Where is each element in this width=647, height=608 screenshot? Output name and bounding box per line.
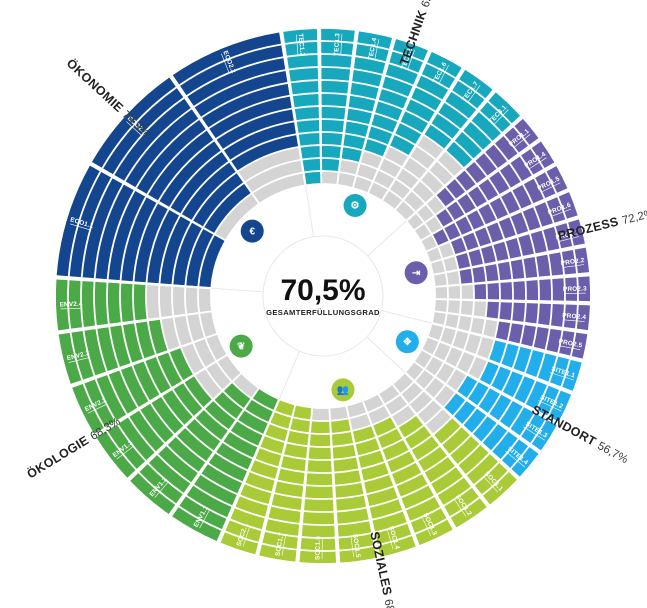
ring-cell-filled — [518, 234, 534, 256]
ring-cell-filled — [506, 238, 521, 258]
ring-cell-empty — [439, 243, 454, 258]
sunburst-svg: ECO1.1ECO2.1ECO2.2TEC1.2TEC1.3TEC1.4TEC1… — [0, 0, 647, 608]
dimension-icon-prozess[interactable]: ⇥ — [405, 261, 428, 284]
ring-cell-filled — [334, 458, 359, 472]
dimension-percent: 72,2% — [621, 208, 647, 228]
euro-icon-glyph: € — [249, 226, 255, 237]
ring-cell-filled — [95, 282, 108, 325]
ring-cell-filled — [511, 259, 525, 279]
dimension-name: TECHNIK — [397, 8, 429, 67]
ring-cell-filled — [281, 456, 306, 471]
ring-cell-filled — [134, 284, 147, 320]
dimension-percent: 65,7% — [420, 0, 442, 9]
ring-cell-filled — [521, 325, 536, 346]
ring-cell-filled — [321, 68, 350, 81]
center-total-value: 70,5% — [280, 274, 365, 307]
ring-cell-filled — [295, 107, 319, 120]
dimension-icon-oekonomie[interactable]: € — [241, 220, 264, 243]
dimension-title: ÖKONOMIE79,9% — [63, 56, 153, 140]
ring-cell-filled — [287, 431, 308, 445]
dimension-name: ÖKONOMIE — [63, 56, 126, 116]
ring-cell-filled — [82, 281, 95, 327]
ring-cell-filled — [481, 246, 496, 264]
ring-cell-filled — [275, 481, 303, 497]
ring-cell-empty — [431, 260, 445, 273]
ring-cell-filled — [451, 238, 466, 254]
ring-cell-empty — [449, 286, 461, 299]
ring-cell-filled — [337, 509, 369, 524]
ring-cell-empty — [471, 318, 485, 334]
ring-cell-filled — [322, 133, 343, 145]
ring-cell-filled — [536, 255, 550, 277]
ring-cell-empty — [427, 248, 441, 262]
ring-cell-filled — [322, 159, 339, 171]
ring-cell-filled — [487, 302, 499, 319]
ring-cell-filled — [305, 172, 321, 184]
ring-cell-filled — [289, 68, 318, 82]
dimension-icon-soziales[interactable]: 👥 — [331, 378, 354, 401]
center-hub-layer: 70,5%GESAMTERFÜLLUNGSGRAD — [211, 184, 435, 408]
ring-cell-empty — [350, 414, 370, 430]
ring-cell-empty — [186, 288, 198, 314]
ring-cell-filled — [301, 146, 320, 159]
ring-cell-filled — [342, 147, 362, 162]
ring-cell-filled — [345, 122, 368, 137]
ring-cell-filled — [487, 283, 499, 299]
ring-cell-filled — [500, 282, 512, 300]
ring-cell-filled — [303, 512, 334, 524]
ring-cell-filled — [284, 444, 307, 459]
ring-cell-filled — [321, 81, 348, 94]
ring-cell-filled — [460, 269, 473, 284]
dimension-name: PROZESS — [557, 215, 620, 244]
ring-cell-filled — [463, 233, 479, 251]
ring-cell-filled — [347, 109, 372, 125]
ring-cell-filled — [496, 321, 510, 340]
ring-cell-empty — [199, 288, 211, 312]
ring-cell-empty — [312, 408, 329, 420]
indicator-code-label: PRO2.3 — [563, 286, 587, 294]
ring-cell-filled — [297, 120, 319, 133]
ring-cell-empty — [448, 300, 460, 313]
indicator-code-label: ENV2.4 — [59, 301, 83, 309]
ring-cell-filled — [302, 525, 335, 537]
ring-cell-empty — [458, 316, 472, 331]
ring-cell-filled — [305, 486, 333, 498]
ring-cell-filled — [485, 264, 498, 281]
ring-cell-filled — [474, 284, 486, 299]
location-network-icon-glyph: ✥ — [403, 337, 412, 348]
ring-cell-filled — [472, 266, 485, 282]
ring-cell-filled — [499, 302, 512, 320]
dimension-icon-standort[interactable]: ✥ — [396, 330, 419, 353]
ring-cell-filled — [335, 483, 363, 498]
ring-cell-filled — [290, 418, 310, 432]
ring-cell-filled — [334, 470, 360, 484]
ring-cell-filled — [469, 249, 483, 266]
ring-cell-empty — [453, 331, 469, 350]
ring-cell-empty — [147, 285, 160, 319]
ring-cell-filled — [534, 327, 549, 349]
ring-cell-filled — [509, 323, 523, 343]
ring-cell-filled — [121, 283, 134, 321]
ring-cell-empty — [461, 301, 473, 315]
ring-cell-filled — [538, 304, 551, 326]
ring-cell-filled — [307, 460, 331, 472]
ring-cell-filled — [512, 303, 525, 322]
ring-cell-filled — [513, 281, 525, 300]
ring-cell-empty — [330, 407, 348, 420]
ring-cell-empty — [436, 287, 448, 299]
indicator-code-label: SOC1.6 — [315, 536, 322, 560]
ring-cell-filled — [524, 257, 538, 278]
ring-cell-filled — [493, 242, 508, 261]
ring-cell-filled — [526, 280, 538, 300]
dimension-icon-oekologie[interactable]: ❦ — [230, 335, 253, 358]
dimension-icon-technik[interactable]: ⚙ — [344, 194, 367, 217]
ring-cell-empty — [338, 173, 355, 187]
indicator-code-label: TEC1.3 — [333, 33, 341, 56]
ring-cell-filled — [287, 55, 318, 69]
ring-cell-filled — [336, 496, 366, 511]
ring-cell-filled — [310, 434, 331, 446]
ring-cell-filled — [304, 499, 333, 511]
ring-cell-filled — [108, 283, 121, 324]
dimension-name: ÖKOLOGIE — [24, 432, 91, 481]
ring-cell-filled — [333, 445, 356, 459]
dimension-percent: 68,5% — [382, 598, 401, 608]
dimension-title-group: ÖKONOMIE79,9% — [63, 56, 153, 140]
ring-cell-filled — [531, 231, 547, 254]
ring-cell-filled — [299, 133, 320, 146]
ring-cell-filled — [525, 303, 538, 323]
process-icon-glyph: ⇥ — [412, 268, 421, 279]
ring-cell-filled — [278, 469, 305, 484]
radial-dashboard-chart: ECO1.1ECO2.1ECO2.2TEC1.2TEC1.3TEC1.4TEC1… — [0, 0, 647, 608]
ring-cell-filled — [331, 419, 350, 432]
ring-cell-filled — [322, 120, 344, 132]
ring-cell-empty — [441, 327, 456, 344]
ring-cell-empty — [435, 300, 447, 312]
ring-cell-empty — [322, 172, 338, 184]
ring-cell-filled — [293, 94, 319, 107]
ring-cell-filled — [309, 447, 331, 459]
people-icon-glyph: 👥 — [337, 385, 349, 396]
ring-cell-empty — [474, 301, 486, 316]
ring-cell-filled — [343, 134, 365, 149]
ring-cell-filled — [293, 406, 311, 420]
ring-cell-filled — [456, 253, 470, 269]
ring-cell-empty — [444, 257, 458, 272]
ring-cell-filled — [303, 159, 321, 172]
ring-cell-filled — [322, 94, 347, 107]
ring-cell-empty — [160, 286, 172, 317]
leaf-icon-glyph: ❦ — [237, 341, 245, 352]
ring-cell-filled — [539, 279, 551, 300]
ring-cell-filled — [311, 421, 330, 433]
ring-cell-empty — [434, 274, 447, 286]
ring-cell-filled — [322, 146, 341, 158]
ring-cell-filled — [322, 107, 346, 119]
gears-icon-glyph: ⚙ — [351, 201, 360, 212]
ring-cell-empty — [462, 285, 474, 299]
ring-cell-filled — [321, 55, 351, 68]
ring-cell-empty — [173, 287, 185, 316]
ring-cell-filled — [349, 96, 376, 112]
ring-cell-filled — [498, 262, 511, 280]
ring-cell-filled — [291, 81, 318, 94]
ring-cell-filled — [332, 432, 353, 446]
center-total-label: GESAMTERFÜLLUNGSGRAD — [266, 308, 380, 317]
ring-cell-filled — [306, 473, 332, 485]
dimension-percent: 56,7% — [595, 440, 629, 466]
ring-cell-empty — [447, 271, 460, 285]
ring-cell-empty — [340, 160, 358, 174]
ring-cell-empty — [483, 320, 497, 338]
